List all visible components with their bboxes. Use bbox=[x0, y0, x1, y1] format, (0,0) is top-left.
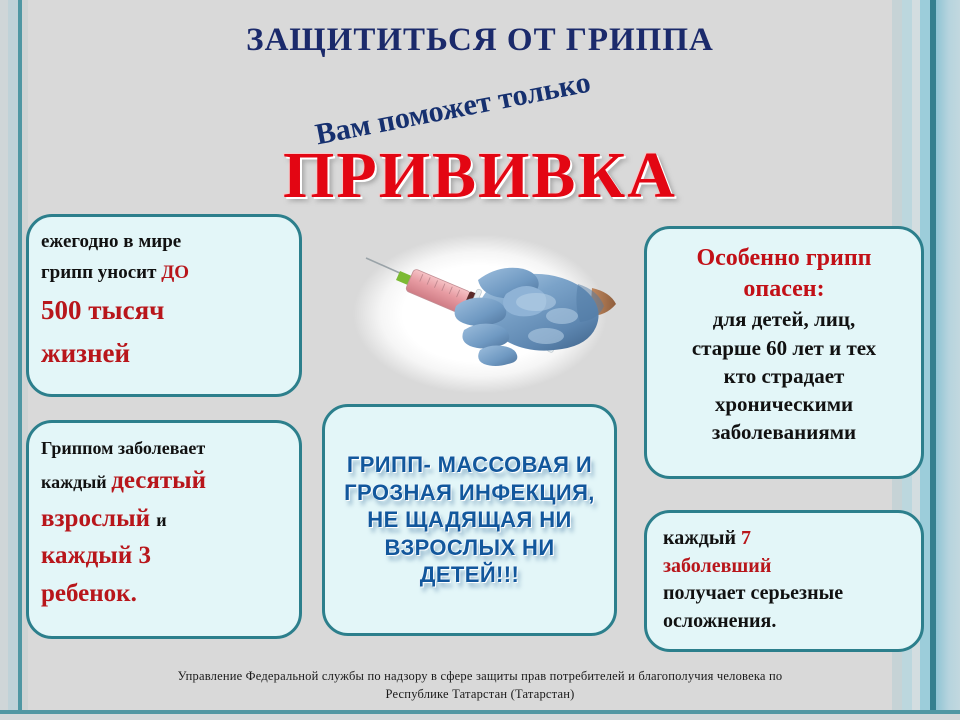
frame-band-bottom-pad bbox=[0, 714, 960, 720]
at-risk-body-line-2: старше 60 лет и тех bbox=[659, 334, 909, 362]
syringe-in-gloved-hand-illustration bbox=[330, 224, 630, 404]
at-risk-body-line-5: заболеваниями bbox=[659, 418, 909, 446]
frame-band-left-teal bbox=[18, 0, 22, 720]
annual-deaths-unit: тысяч bbox=[88, 295, 164, 325]
incidence-adult-red: взрослый bbox=[41, 505, 150, 532]
footer-line-1: Управление Федеральной службы по надзору… bbox=[40, 667, 920, 686]
annual-deaths-line-4: жизней bbox=[41, 332, 287, 376]
mass-infection-line-2: ГРОЗНАЯ ИНФЕКЦИЯ, bbox=[344, 479, 595, 507]
frame-band-bottom-line bbox=[0, 710, 960, 714]
footer-line-2: Республике Татарстан (Татарстан) bbox=[40, 685, 920, 704]
mass-infection-text: ГРИПП- МАССОВАЯ И ГРОЗНАЯ ИНФЕКЦИЯ, НЕ Щ… bbox=[344, 451, 595, 589]
syringe-icon bbox=[330, 224, 630, 404]
annual-deaths-line-2: грипп уносит ДО bbox=[41, 258, 287, 289]
frame-band-left-outer bbox=[0, 0, 8, 720]
incidence-line-3: взрослый и bbox=[41, 500, 287, 538]
incidence-line-1: Гриппом заболевает bbox=[41, 435, 287, 462]
annual-deaths-number: 500 bbox=[41, 295, 82, 325]
poster-hero-heading: ПРИВИВКА bbox=[0, 138, 960, 214]
complications-line-1-black: каждый bbox=[663, 527, 736, 549]
complications-line-2: заболевший bbox=[663, 553, 909, 581]
poster-root: ЗАЩИТИТЬСЯ ОТ ГРИППА Вам поможет только … bbox=[0, 0, 960, 720]
fact-box-incidence: Гриппом заболевает каждый десятый взросл… bbox=[26, 420, 302, 639]
fact-box-complications: каждый 7 заболевший получает серьезные о… bbox=[644, 510, 924, 652]
annual-deaths-line-2-red: ДО bbox=[161, 262, 189, 283]
fact-box-annual-deaths: ежегодно в мире грипп уносит ДО 500 тыся… bbox=[26, 214, 302, 397]
mass-infection-line-5: ДЕТЕЙ!!! bbox=[344, 561, 595, 589]
complications-line-3: получает серьезные bbox=[663, 580, 909, 608]
annual-deaths-line-1: ежегодно в мире bbox=[41, 227, 287, 258]
incidence-line-2-red: десятый bbox=[111, 467, 206, 494]
frame-band-left-pale bbox=[8, 0, 18, 720]
at-risk-header-line-1: Особенно грипп bbox=[659, 243, 909, 274]
at-risk-body-line-3: кто страдает bbox=[659, 362, 909, 390]
fact-box-at-risk: Особенно грипп опасен: для детей, лиц, с… bbox=[644, 226, 924, 479]
frame-band-right-f bbox=[936, 0, 960, 720]
complications-line-1-red: 7 bbox=[741, 527, 751, 549]
frame-band-right-e bbox=[930, 0, 936, 720]
incidence-line-2: каждый десятый bbox=[41, 462, 287, 500]
complications-line-4: осложнения. bbox=[663, 608, 909, 636]
footer-attribution: Управление Федеральной службы по надзору… bbox=[40, 667, 920, 705]
annual-deaths-line-2-black: грипп уносит bbox=[41, 262, 156, 283]
incidence-conjunction: и bbox=[156, 510, 166, 530]
mass-infection-line-4: ВЗРОСЛЫХ НИ bbox=[344, 534, 595, 562]
incidence-line-5: ребенок. bbox=[41, 575, 287, 613]
annual-deaths-line-3: 500 тысяч bbox=[41, 289, 287, 333]
mass-infection-line-3: НЕ ЩАДЯЩАЯ НИ bbox=[344, 506, 595, 534]
poster-main-heading: ЗАЩИТИТЬСЯ ОТ ГРИППА bbox=[0, 22, 960, 59]
fact-box-mass-infection: ГРИПП- МАССОВАЯ И ГРОЗНАЯ ИНФЕКЦИЯ, НЕ Щ… bbox=[322, 404, 617, 636]
at-risk-body-line-4: хроническими bbox=[659, 390, 909, 418]
incidence-line-4: каждый 3 bbox=[41, 537, 287, 575]
complications-line-1: каждый 7 bbox=[663, 525, 909, 553]
at-risk-body-line-1: для детей, лиц, bbox=[659, 305, 909, 333]
at-risk-header-line-2: опасен: bbox=[659, 274, 909, 305]
mass-infection-line-1: ГРИПП- МАССОВАЯ И bbox=[344, 451, 595, 479]
incidence-line-2-black: каждый bbox=[41, 472, 107, 492]
